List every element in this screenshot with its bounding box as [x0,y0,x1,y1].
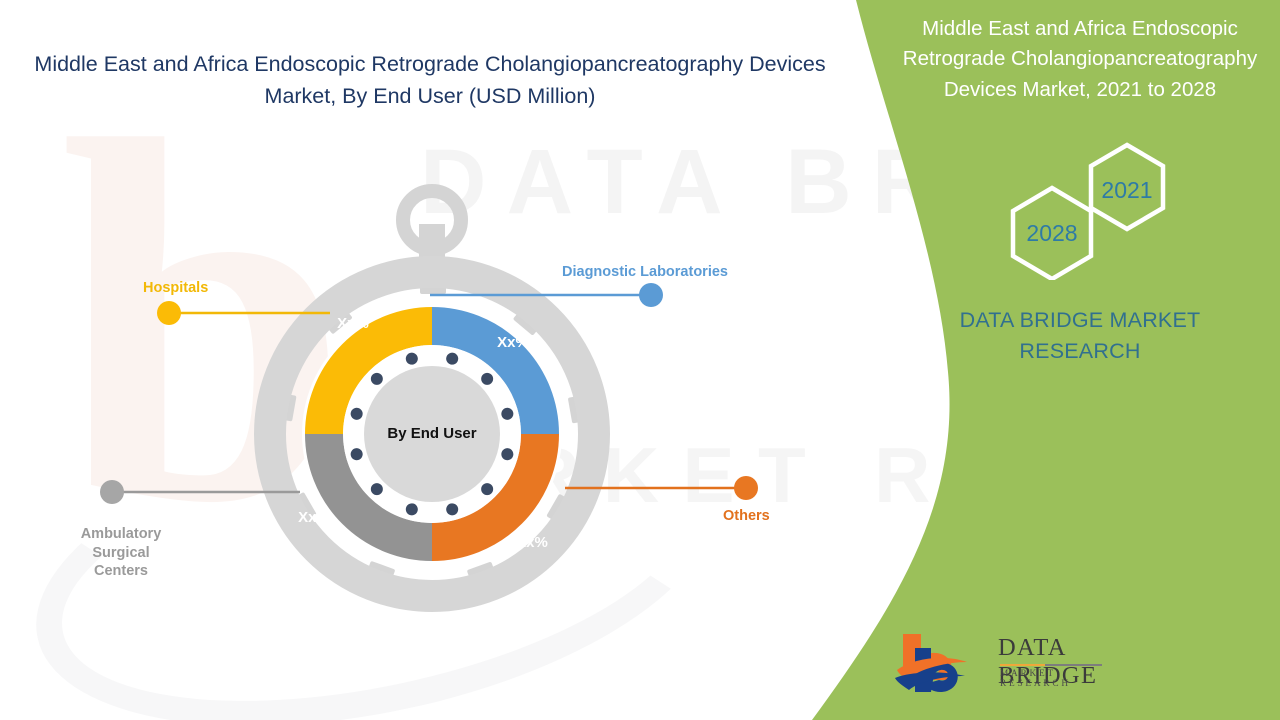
callout-dot-others[interactable] [734,476,758,500]
logo-mark-icon [893,628,993,696]
callout-label-hospitals: Hospitals [143,279,208,298]
data-bridge-logo: DATA BRIDGE MARKET RESEARCH [893,628,1108,698]
callout-dot-hospitals[interactable] [157,301,181,325]
callout-label-others: Others [723,507,770,526]
callout-dot-diagnostic-laboratories[interactable] [639,283,663,307]
logo-tagline: MARKET RESEARCH [1000,669,1108,689]
callout-connectors [0,0,1280,720]
logo-divider-secondary [1045,664,1102,666]
infographic-canvas: b DATA BRIDGE MARKET RESEARCH Middle Eas… [0,0,1280,720]
callout-dot-ambulatory-surgical-centers[interactable] [100,480,124,504]
callout-label-diagnostic-laboratories: Diagnostic Laboratories [562,263,728,282]
callout-label-ambulatory-surgical-centers: Ambulatory Surgical Centers [75,525,167,581]
